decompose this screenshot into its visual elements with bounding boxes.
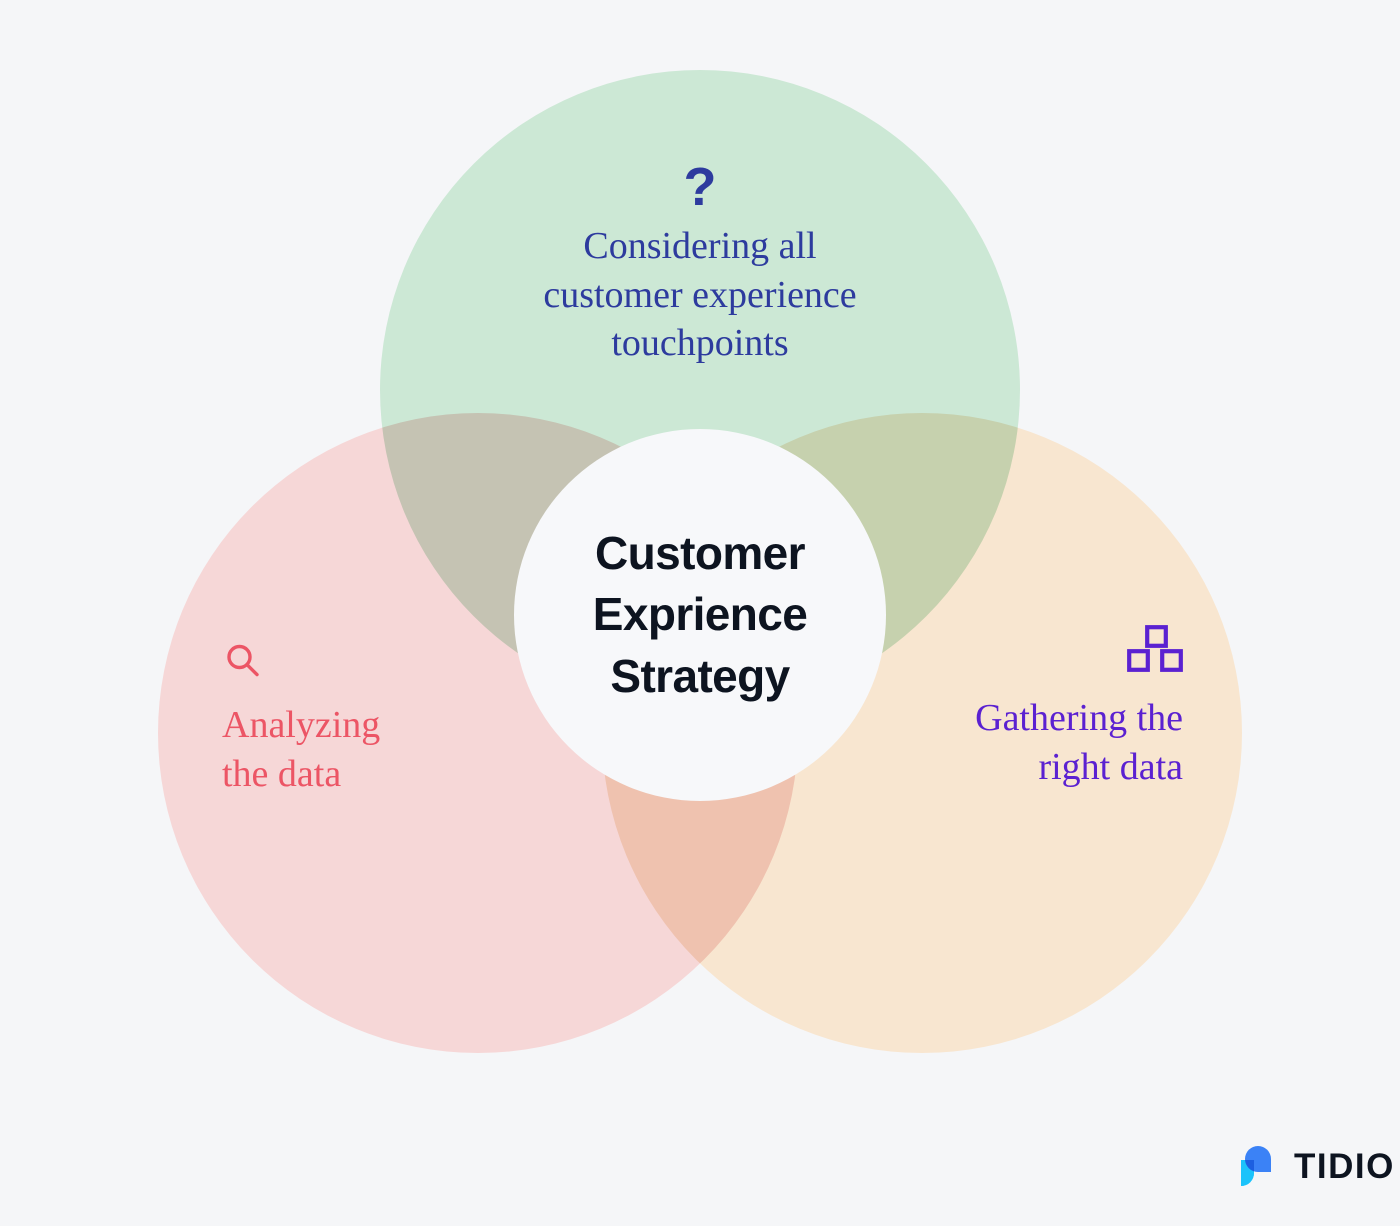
venn-diagram-canvas: ? Considering all customer experience to… [0,0,1400,1226]
blocks-icon [900,625,1183,680]
lobe-right-gathering: Gathering the right data [900,625,1183,791]
lobe-right-label: Gathering the right data [900,694,1183,791]
lobe-left-analyzing: Analyzing the data [222,640,522,798]
magnifying-glass-icon [222,640,522,687]
lobe-top-considering: ? Considering all customer experience to… [470,160,930,368]
tidio-chat-bubbles-logo-icon [1232,1142,1280,1190]
center-hub-title: Customer Exprience Strategy [593,523,808,707]
brand-wordmark: TIDIO [1294,1149,1395,1184]
brand-logo: TIDIO [1232,1142,1395,1190]
venn-center-hub: Customer Exprience Strategy [514,429,886,801]
lobe-left-label: Analyzing the data [222,701,522,798]
question-mark-icon: ? [470,160,930,214]
lobe-top-label: Considering all customer experience touc… [470,222,930,368]
